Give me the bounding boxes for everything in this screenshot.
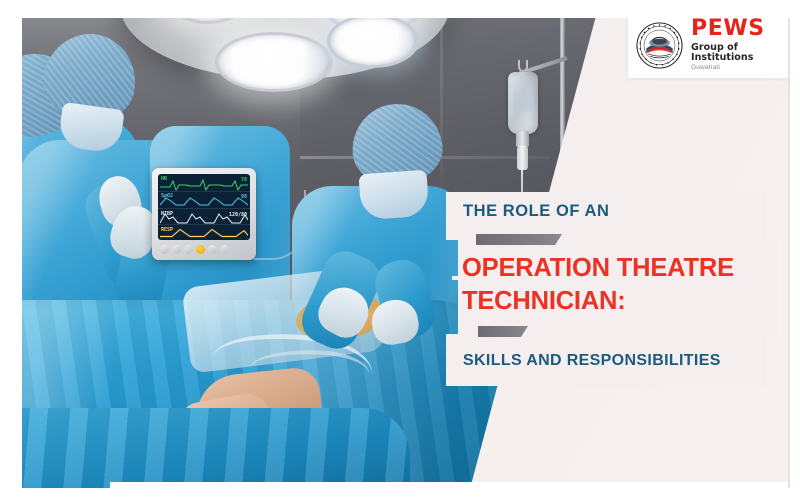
pews-logo-text: PEWS Group of Institutions Guwahati (691, 18, 782, 72)
resp-waveform (160, 226, 248, 240)
logo-city: Guwahati (691, 65, 782, 72)
frame-left-bar (0, 0, 22, 500)
surgical-light-2 (215, 32, 333, 92)
headline-divider-bottom (478, 326, 528, 337)
frame-top-bar (0, 0, 800, 18)
patient-monitor: 78 98 120/80 HR SpO2 NIBP RESP (152, 168, 256, 260)
monitor-hr-value: 78 (241, 177, 247, 183)
spo2-waveform (160, 194, 248, 208)
iv-bag-neck (516, 131, 529, 147)
monitor-key-4[interactable] (208, 245, 217, 254)
monitor-key-5[interactable] (220, 245, 229, 254)
monitor-nibp-value: 120/80 (229, 212, 247, 218)
frame-right-bar (790, 0, 800, 500)
logo-brand: PEWS (691, 18, 782, 40)
patient-monitor-keys[interactable] (160, 243, 248, 255)
frame-bottom-rule (110, 482, 800, 488)
monitor-spo2-value: 98 (241, 194, 247, 200)
monitor-alarm-key[interactable] (196, 245, 205, 254)
logo-tagline: Group of Institutions (691, 43, 782, 62)
ecg-waveform (160, 177, 248, 191)
iv-fluid-bag (508, 72, 538, 134)
iv-hook (518, 60, 528, 72)
iv-drip-chamber (517, 146, 528, 170)
patient-monitor-screen: 78 98 120/80 HR SpO2 NIBP RESP (158, 174, 250, 240)
pews-institutional-seal-icon (636, 22, 683, 69)
frame-bottom-bar (0, 488, 800, 500)
headline-subhead: SKILLS AND RESPONSIBILITIES (463, 352, 721, 370)
monitor-key-2[interactable] (172, 245, 181, 254)
monitor-hr-label: HR (161, 176, 167, 182)
headline-title: OPERATION THEATRE TECHNICIAN: (462, 252, 780, 318)
monitor-key-1[interactable] (160, 245, 169, 254)
monitor-nibp-label: NIBP (161, 211, 173, 217)
monitor-resp-label: RESP (161, 227, 173, 233)
headline-divider-top (476, 234, 562, 245)
monitor-spo2-label: SpO2 (161, 193, 173, 199)
blog-hero-banner: 78 98 120/80 HR SpO2 NIBP RESP (0, 0, 800, 500)
surgical-light-4 (327, 14, 419, 68)
frame-right-rule (788, 18, 790, 488)
pews-logo-card[interactable]: PEWS Group of Institutions Guwahati (628, 12, 792, 78)
monitor-key-3[interactable] (184, 245, 193, 254)
headline-kicker: THE ROLE OF AN (463, 202, 609, 221)
